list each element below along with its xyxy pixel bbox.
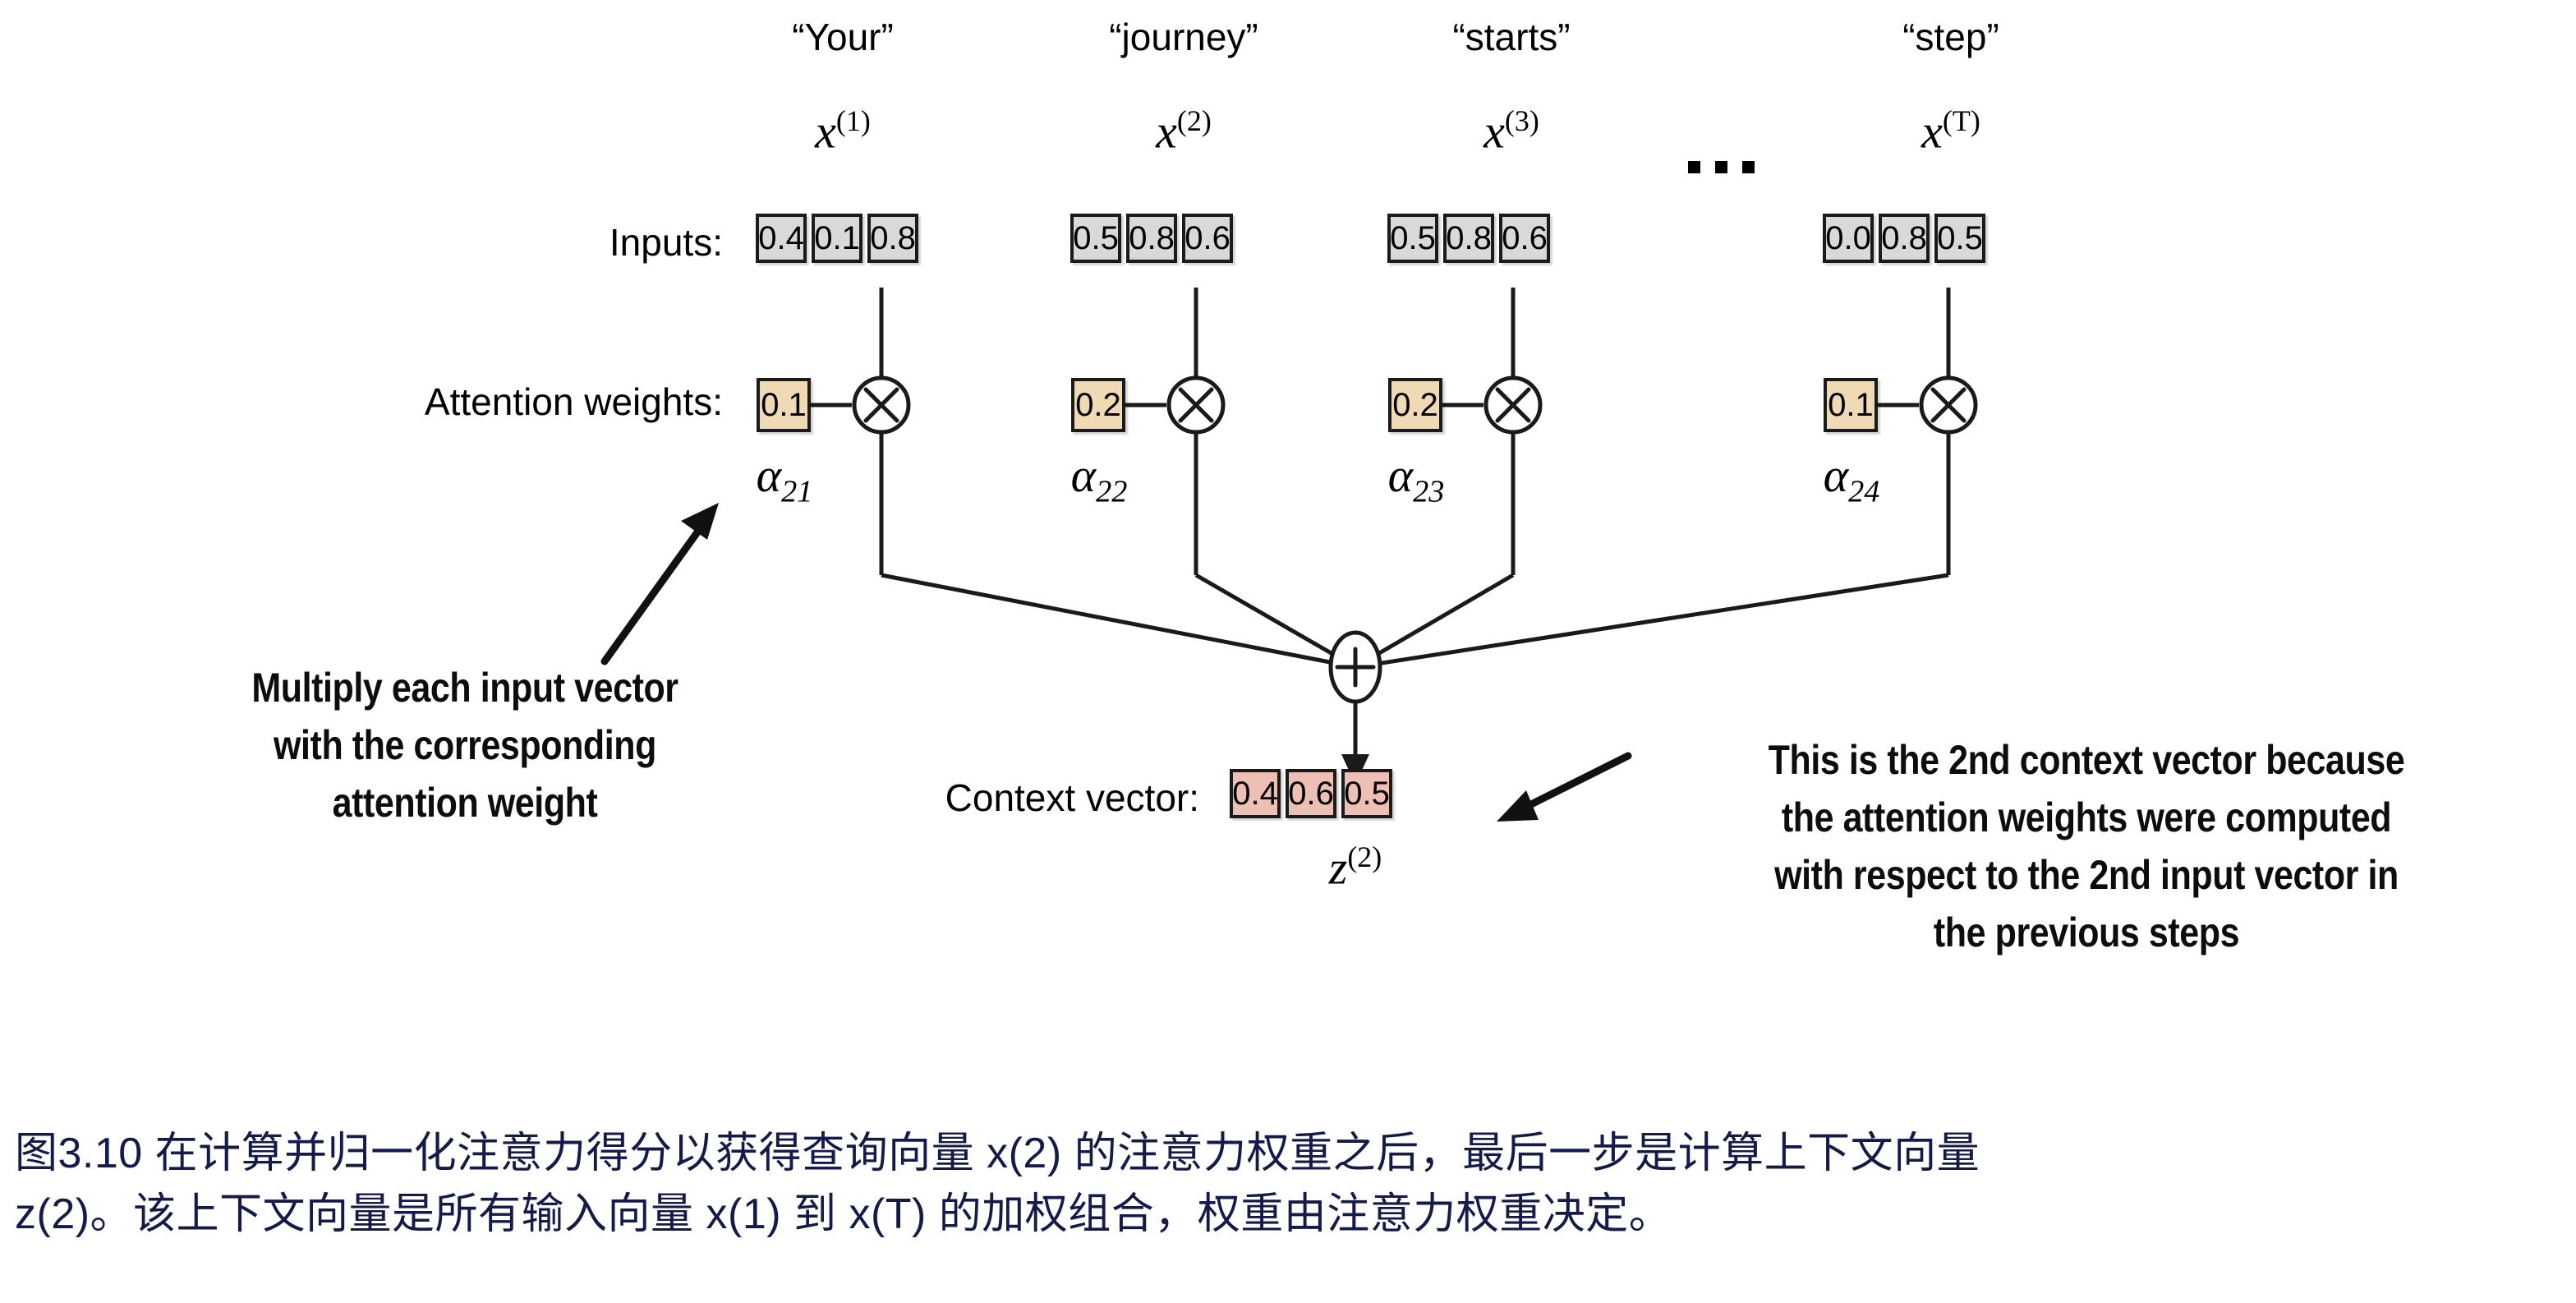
multiply-circle-4: [1921, 378, 1976, 432]
left-annotation-line-1: Multiply each input vector: [196, 667, 734, 708]
left-annotation-line-2: with the corresponding: [196, 725, 734, 766]
var-super-1: (1): [836, 104, 871, 137]
multiply-circle-2: [1169, 378, 1223, 432]
right-note-arrowhead: [1497, 790, 1539, 822]
attention-weight-cell-3: 0.2: [1388, 378, 1442, 432]
input-cell: 0.6: [1499, 214, 1550, 263]
sum-glyph: [1337, 649, 1373, 685]
alpha-label-4: α24: [1773, 448, 1930, 510]
alpha-sub-3: 23: [1413, 475, 1444, 509]
figure-canvas: “Your” “journey” “starts” “step” x(1) x(…: [0, 0, 2576, 1303]
input-cell: 0.5: [1934, 214, 1985, 263]
input-cell: 0.0: [1823, 214, 1874, 263]
input-cell: 0.8: [1126, 214, 1177, 263]
right-annotation-line-4: the previous steps: [1684, 912, 2489, 953]
input-vector-2: 0.5 0.8 0.6: [1070, 214, 1233, 263]
input-cell: 0.6: [1182, 214, 1233, 263]
context-var-label: z(2): [1265, 840, 1446, 895]
token-label-1: “Your”: [752, 15, 933, 59]
var-base-1: x: [815, 104, 836, 158]
right-annotation-line-2: the attention weights were computed: [1684, 797, 2489, 838]
left-annotation: Multiply each input vector with the corr…: [153, 667, 777, 840]
input-vector-1: 0.4 0.1 0.8: [756, 214, 918, 263]
context-var-super: (2): [1347, 840, 1382, 873]
input-cell: 0.5: [1387, 214, 1438, 263]
var-base-2: x: [1156, 104, 1177, 158]
ellipsis-dot-1: [1688, 161, 1700, 173]
right-annotation-line-3: with respect to the 2nd input vector in: [1684, 854, 2489, 896]
token-label-2: “journey”: [1048, 15, 1319, 59]
caption-line-1: 图3.10 在计算并归一化注意力得分以获得查询向量 x(2) 的注意力权重之后，…: [15, 1124, 2569, 1185]
var-base-3: x: [1483, 104, 1505, 158]
input-cell: 0.8: [1443, 214, 1494, 263]
alpha-label-2: α22: [1021, 448, 1177, 510]
attention-weights-row-label: Attention weights:: [263, 380, 723, 424]
right-annotation: This is the 2nd context vector because t…: [1618, 739, 2555, 969]
alpha-label-1: α21: [706, 448, 862, 510]
converge-2: [1196, 575, 1355, 667]
context-vector: 0.4 0.6 0.5: [1230, 769, 1392, 818]
alpha-base-3: α: [1388, 449, 1413, 502]
caption-line-2: z(2)。该上下文向量是所有输入向量 x(1) 到 x(T) 的加权组合，权重由…: [15, 1185, 2569, 1245]
alpha-sub-1: 21: [781, 475, 812, 509]
multiply-circle-3: [1486, 378, 1540, 432]
ellipsis-dot-3: [1742, 161, 1755, 173]
var-label-1: x(1): [752, 104, 933, 159]
context-cell: 0.4: [1230, 769, 1281, 818]
left-annotation-line-3: attention weight: [196, 782, 734, 823]
sum-circle: [1331, 633, 1380, 702]
attention-weight-cell-4: 0.1: [1824, 378, 1878, 432]
alpha-base-1: α: [757, 449, 781, 502]
converge-4: [1355, 575, 1948, 667]
token-label-4: “step”: [1848, 15, 2054, 59]
input-cell: 0.8: [1879, 214, 1930, 263]
multiply-circle-1: [854, 378, 908, 432]
attention-weight-cell-2: 0.2: [1071, 378, 1125, 432]
right-annotation-line-1: This is the 2nd context vector because: [1684, 739, 2489, 780]
token-label-3: “starts”: [1405, 15, 1618, 59]
ellipsis-dots: [1688, 161, 1755, 173]
alpha-base-4: α: [1824, 449, 1848, 502]
context-cell: 0.5: [1341, 769, 1392, 818]
input-cell: 0.5: [1070, 214, 1121, 263]
alpha-label-3: α23: [1338, 448, 1494, 510]
input-vector-3: 0.5 0.8 0.6: [1387, 214, 1550, 263]
var-label-4: x(T): [1848, 104, 2054, 159]
input-vector-4: 0.0 0.8 0.5: [1823, 214, 1985, 263]
var-super-2: (2): [1177, 104, 1212, 137]
input-cell: 0.4: [756, 214, 807, 263]
var-super-4: (T): [1943, 104, 1980, 137]
context-var-base: z: [1329, 840, 1348, 894]
input-cell: 0.8: [867, 214, 918, 263]
context-cell: 0.6: [1286, 769, 1336, 818]
alpha-sub-2: 22: [1096, 475, 1127, 509]
alpha-base-2: α: [1071, 449, 1096, 502]
var-base-4: x: [1921, 104, 1943, 158]
inputs-row-label: Inputs:: [345, 220, 723, 265]
connector-overlay: [0, 0, 2576, 1303]
left-note-arrow: [605, 524, 703, 661]
var-label-2: x(2): [1048, 104, 1319, 159]
right-note-arrow: [1521, 756, 1628, 809]
converge-3: [1355, 575, 1513, 667]
alpha-sub-4: 24: [1848, 475, 1879, 509]
figure-caption: 图3.10 在计算并归一化注意力得分以获得查询向量 x(2) 的注意力权重之后，…: [15, 1124, 2569, 1245]
attention-weight-cell-1: 0.1: [757, 378, 811, 432]
converge-1: [881, 575, 1355, 667]
var-super-3: (3): [1505, 104, 1539, 137]
input-cell: 0.1: [812, 214, 862, 263]
ellipsis-dot-2: [1715, 161, 1727, 173]
var-label-3: x(3): [1405, 104, 1618, 159]
